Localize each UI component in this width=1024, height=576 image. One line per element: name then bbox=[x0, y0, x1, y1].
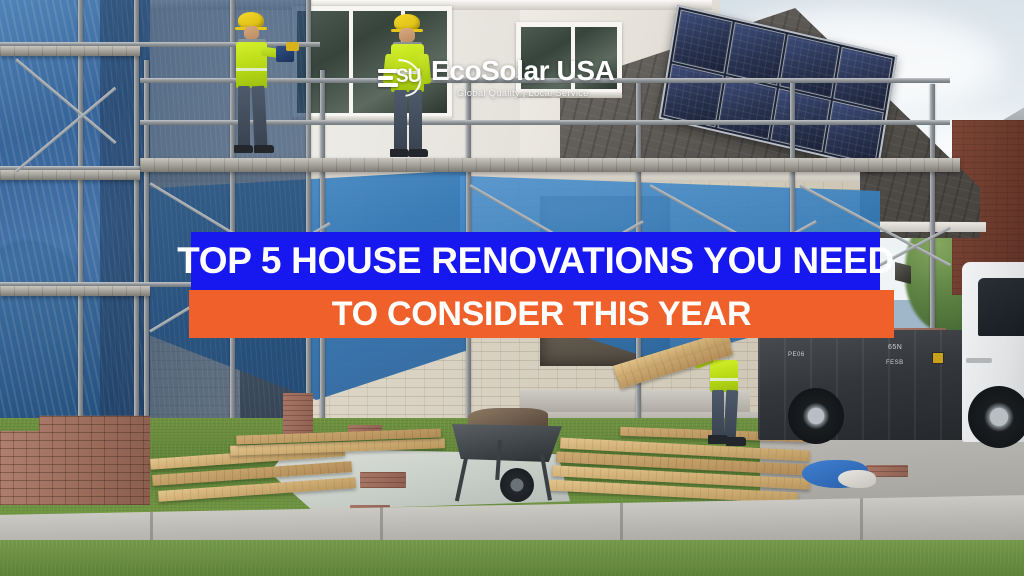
truck-front-code: PE06 bbox=[788, 352, 805, 358]
scaffold-post bbox=[306, 0, 311, 450]
truck-wheel-front bbox=[968, 386, 1024, 448]
scaffold-post bbox=[78, 0, 83, 470]
worker-boot bbox=[234, 145, 253, 153]
brand-logo[interactable]: SU EcoSolar USA Global Quality | Local S… bbox=[378, 54, 650, 102]
power-tool-accent bbox=[286, 42, 299, 51]
esu-monogram-icon: SU bbox=[378, 58, 424, 98]
scaffold-post bbox=[134, 0, 139, 470]
scaffold-deck bbox=[0, 46, 140, 56]
solar-panel-cell bbox=[726, 22, 786, 86]
poster-canvas: 65N FESB PE06 SU EcoSolar USA Global Qua… bbox=[0, 0, 1024, 576]
vest-reflective-stripe bbox=[710, 378, 738, 381]
truck-windshield bbox=[978, 278, 1024, 336]
hi-vis-vest bbox=[710, 360, 738, 392]
solar-panel-cell bbox=[824, 101, 884, 165]
brand-tagline: Global Quality | Local Service bbox=[431, 89, 614, 99]
window-mullion bbox=[349, 11, 353, 113]
solar-panel-cell bbox=[717, 76, 777, 140]
worker-leg bbox=[238, 86, 250, 148]
worker-boot bbox=[254, 145, 274, 153]
truck-side-code: 65N bbox=[888, 344, 902, 351]
brick-piece bbox=[360, 472, 406, 488]
solar-panel-cell bbox=[779, 34, 839, 98]
white-debris-bag bbox=[838, 470, 876, 488]
worker-leg bbox=[712, 390, 724, 438]
truck-door-handle bbox=[966, 358, 992, 363]
wheelbarrow-wheel bbox=[500, 468, 534, 502]
worker-left bbox=[224, 12, 284, 162]
brand-name: EcoSolar USA bbox=[431, 57, 614, 85]
worker-face bbox=[244, 26, 259, 40]
lawn-front bbox=[0, 540, 1024, 576]
headline-line-2: TO CONSIDER THIS YEAR bbox=[332, 295, 751, 334]
worker-boot bbox=[390, 149, 409, 157]
scaffold-deck bbox=[0, 286, 150, 296]
headline-banner-orange: TO CONSIDER THIS YEAR bbox=[189, 290, 894, 338]
solar-panel-cell bbox=[672, 10, 732, 74]
worker-boot bbox=[409, 149, 428, 157]
truck-placard-icon bbox=[932, 352, 944, 364]
worker-face bbox=[399, 28, 415, 43]
headline-banner-blue: TOP 5 HOUSE RENOVATIONS YOU NEED bbox=[191, 232, 880, 290]
worker-leg bbox=[251, 86, 267, 149]
solar-panel-cell bbox=[663, 63, 723, 127]
wheelbarrow-tray bbox=[452, 424, 562, 462]
worker-leg bbox=[724, 390, 738, 439]
vest-reflective-stripe bbox=[236, 68, 267, 71]
headline-line-1: TOP 5 HOUSE RENOVATIONS YOU NEED bbox=[177, 240, 894, 282]
scaffold-deck bbox=[0, 170, 140, 180]
logo-monogram-text: SU bbox=[396, 66, 420, 88]
worker-boot bbox=[708, 435, 728, 444]
brand-logo-text: EcoSolar USA Global Quality | Local Serv… bbox=[431, 57, 614, 99]
truck-sub-code: FESB bbox=[886, 360, 904, 366]
worker-boot bbox=[726, 437, 746, 446]
logo-bars-icon bbox=[378, 69, 398, 87]
worker-lumber bbox=[700, 352, 760, 450]
truck-wheel-rear bbox=[788, 388, 844, 444]
